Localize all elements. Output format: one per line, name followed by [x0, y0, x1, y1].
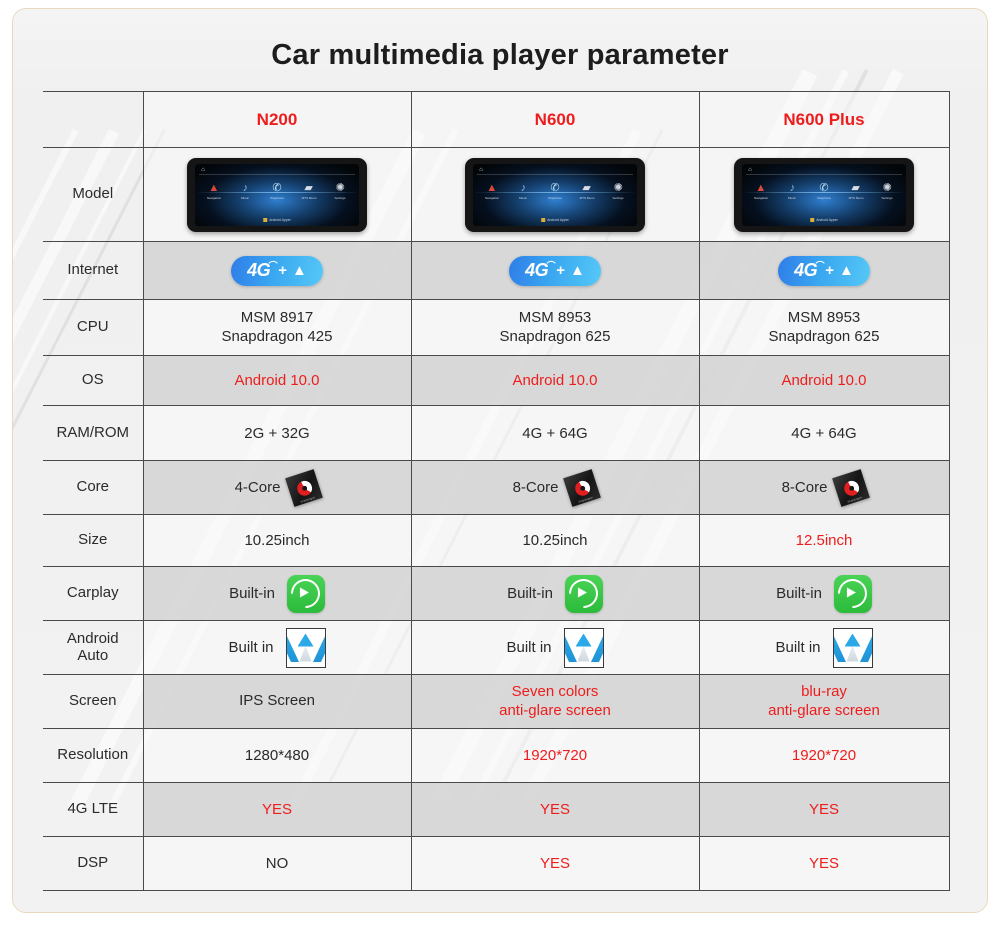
- car-menu-icon: ▰: [843, 182, 869, 195]
- row-label-android-auto: Android Auto: [43, 621, 143, 675]
- os-value: Android 10.0: [512, 372, 597, 389]
- device-app-settings: ✺Settings: [327, 182, 353, 200]
- device-footer-label: Android Apper: [269, 218, 291, 222]
- music-icon: ♪: [510, 182, 536, 195]
- wifi-icon: ▲: [570, 263, 585, 278]
- column-header-n600plus: N600 Plus: [699, 92, 949, 148]
- cell-core-n600: 8-Core Snapdragon: [411, 461, 699, 515]
- cell-ram-n600plus: 4G + 64G: [699, 406, 949, 461]
- navigation-icon: ▲: [201, 182, 227, 195]
- carplay-wrap: Built-in: [507, 575, 603, 613]
- table-row-core: Core 4-Core Snapdragon 8-Core Snapdragon: [43, 461, 949, 515]
- screen-value-line1: blu-ray: [700, 683, 949, 702]
- home-icon: ⌂: [478, 167, 484, 173]
- cell-model-n200: ⌂ ▲Navigation ♪Music ✆Telephone ▰MTS Men…: [143, 148, 411, 242]
- table-row-4g-lte: 4G LTE YES YES YES: [43, 783, 949, 837]
- device-app-label: Telephone: [812, 196, 837, 200]
- signal-waves-icon: ⌒: [547, 259, 556, 272]
- row-label-screen: Screen: [43, 675, 143, 729]
- snapdragon-chip-icon: Snapdragon: [286, 469, 324, 507]
- screen-value-line2: anti-glare screen: [700, 702, 949, 721]
- row-label-internet: Internet: [43, 242, 143, 300]
- screen-value-line1: Seven colors: [412, 683, 699, 702]
- row-label-core: Core: [43, 461, 143, 515]
- snapdragon-chip-icon: Snapdragon: [833, 469, 871, 507]
- badge-4g-wifi: 4G⌒ + ▲: [778, 256, 870, 286]
- carplay-value: Built-in: [229, 585, 275, 602]
- cell-model-n600plus: ⌂ ▲Navigation ♪Music ✆Telephone ▰MTS Men…: [699, 148, 949, 242]
- home-icon: ⌂: [747, 167, 753, 173]
- head-unit-device: ⌂ ▲Navigation ♪Music ✆Telephone ▰MTS Men…: [465, 158, 645, 232]
- badge-plus-label: +: [278, 262, 287, 279]
- table-row-cpu: CPU MSM 8917 Snapdragon 425 MSM 8953 Sna…: [43, 300, 949, 356]
- cpu-chipset: Snapdragon 425: [144, 328, 411, 347]
- device-app-label: Music: [511, 196, 536, 200]
- device-app-icons: ▲Navigation ♪Music ✆Telephone ▰MTS Menu …: [745, 182, 903, 208]
- badge-4g-wifi: 4G⌒ + ▲: [509, 256, 601, 286]
- row-label-dsp: DSP: [43, 837, 143, 891]
- resolution-value: 1920*720: [792, 747, 856, 764]
- cell-resolution-n200: 1280*480: [143, 729, 411, 783]
- device-app-icons: ▲Navigation ♪Music ✆Telephone ▰MTS Menu …: [198, 182, 356, 208]
- device-footer: Android Apper: [263, 218, 291, 222]
- settings-icon: ✺: [327, 182, 353, 195]
- snapdragon-caption: Snapdragon: [572, 493, 601, 505]
- device-app-icons: ▲Navigation ♪Music ✆Telephone ▰MTS Menu …: [476, 182, 634, 208]
- table-header-row: N200 N600 N600 Plus: [43, 92, 949, 148]
- wifi-icon: ▲: [292, 263, 307, 278]
- cell-internet-n200: 4G⌒ + ▲: [143, 242, 411, 300]
- device-app-mts-menu: ▰MTS Menu: [574, 182, 600, 200]
- spec-table: N200 N600 N600 Plus Model ⌂: [43, 91, 950, 891]
- row-label-os: OS: [43, 356, 143, 406]
- header-blank-cell: [43, 92, 143, 148]
- head-unit-device: ⌂ ▲Navigation ♪Music ✆Telephone ▰MTS Men…: [734, 158, 914, 232]
- device-statusbar: ⌂: [746, 167, 902, 175]
- device-footer-label: Android Apper: [816, 218, 838, 222]
- music-icon: ♪: [779, 182, 805, 195]
- table-row-screen: Screen IPS Screen Seven colors anti-glar…: [43, 675, 949, 729]
- table-row-size: Size 10.25inch 10.25inch 12.5inch: [43, 515, 949, 567]
- device-app-label: Settings: [875, 196, 900, 200]
- android-badge-icon: [810, 218, 814, 222]
- device-statusbar: ⌂: [477, 167, 633, 175]
- carplay-value: Built-in: [507, 585, 553, 602]
- cell-size-n200: 10.25inch: [143, 515, 411, 567]
- table-row-dsp: DSP NO YES YES: [43, 837, 949, 891]
- row-label-model: Model: [43, 148, 143, 242]
- device-app-mts-menu: ▰MTS Menu: [296, 182, 322, 200]
- lte-value: YES: [809, 801, 839, 818]
- car-menu-icon: ▰: [574, 182, 600, 195]
- android-auto-wrap: Built in: [506, 628, 603, 668]
- table-row-android-auto: Android Auto Built in Built in: [43, 621, 949, 675]
- carplay-icon: [834, 575, 872, 613]
- cell-cpu-n600plus: MSM 8953 Snapdragon 625: [699, 300, 949, 356]
- table-row-model: Model ⌂ ▲Navigation ♪Music ✆Telephone ▰M…: [43, 148, 949, 242]
- device-footer: Android Apper: [810, 218, 838, 222]
- os-value: Android 10.0: [234, 372, 319, 389]
- column-header-n200-label: N200: [257, 110, 298, 129]
- android-auto-icon: [286, 628, 326, 668]
- cell-android-auto-n200: Built in: [143, 621, 411, 675]
- cell-4glte-n200: YES: [143, 783, 411, 837]
- snapdragon-caption: Snapdragon: [841, 493, 870, 505]
- cell-core-n200: 4-Core Snapdragon: [143, 461, 411, 515]
- badge-4g-label: 4G⌒: [794, 260, 817, 281]
- cell-4glte-n600plus: YES: [699, 783, 949, 837]
- device-app-label: Navigation: [201, 196, 226, 200]
- device-app-label: Settings: [606, 196, 631, 200]
- android-auto-value: Built in: [775, 639, 820, 656]
- column-header-n600-label: N600: [535, 110, 576, 129]
- navigation-icon: ▲: [479, 182, 505, 195]
- device-app-label: Navigation: [748, 196, 773, 200]
- dsp-value: YES: [540, 855, 570, 872]
- wifi-icon: ▲: [839, 263, 854, 278]
- cell-resolution-n600: 1920*720: [411, 729, 699, 783]
- cell-4glte-n600: YES: [411, 783, 699, 837]
- row-label-ram-rom: RAM/ROM: [43, 406, 143, 461]
- cell-internet-n600: 4G⌒ + ▲: [411, 242, 699, 300]
- device-app-telephone: ✆Telephone: [542, 182, 568, 200]
- badge-4g-label: 4G⌒: [247, 260, 270, 281]
- device-footer-label: Android Apper: [547, 218, 569, 222]
- lte-value: YES: [540, 801, 570, 818]
- signal-waves-icon: ⌒: [816, 259, 825, 272]
- badge-plus-label: +: [556, 262, 565, 279]
- column-header-n200: N200: [143, 92, 411, 148]
- device-app-label: Settings: [328, 196, 353, 200]
- row-label-resolution: Resolution: [43, 729, 143, 783]
- cpu-model: MSM 8917: [144, 309, 411, 328]
- column-header-n600plus-label: N600 Plus: [783, 110, 864, 129]
- device-app-settings: ✺Settings: [605, 182, 631, 200]
- cpu-model: MSM 8953: [700, 309, 949, 328]
- table-row-internet: Internet 4G⌒ + ▲ 4G⌒ + ▲: [43, 242, 949, 300]
- device-app-label: Telephone: [265, 196, 290, 200]
- carplay-icon: [287, 575, 325, 613]
- telephone-icon: ✆: [811, 182, 837, 195]
- row-label-line1: Android: [43, 631, 143, 648]
- carplay-value: Built-in: [776, 585, 822, 602]
- core-value: 8-Core: [782, 479, 828, 496]
- table-row-os: OS Android 10.0 Android 10.0 Android 10.…: [43, 356, 949, 406]
- device-app-mts-menu: ▰MTS Menu: [843, 182, 869, 200]
- android-auto-icon: [564, 628, 604, 668]
- device-app-navigation: ▲Navigation: [201, 182, 227, 200]
- telephone-icon: ✆: [542, 182, 568, 195]
- device-app-label: Music: [233, 196, 258, 200]
- settings-icon: ✺: [874, 182, 900, 195]
- row-label-4g-lte: 4G LTE: [43, 783, 143, 837]
- page-title: Car multimedia player parameter: [13, 39, 987, 72]
- cell-os-n600: Android 10.0: [411, 356, 699, 406]
- cpu-chipset: Snapdragon 625: [412, 328, 699, 347]
- cell-ram-n600: 4G + 64G: [411, 406, 699, 461]
- cell-resolution-n600plus: 1920*720: [699, 729, 949, 783]
- row-label-cpu: CPU: [43, 300, 143, 356]
- screen-value-line2: anti-glare screen: [412, 702, 699, 721]
- cell-screen-n200: IPS Screen: [143, 675, 411, 729]
- device-app-music: ♪Music: [232, 182, 258, 200]
- badge-plus-label: +: [825, 262, 834, 279]
- signal-waves-icon: ⌒: [269, 259, 278, 272]
- device-app-label: MTS Menu: [843, 196, 868, 200]
- cell-os-n600plus: Android 10.0: [699, 356, 949, 406]
- device-app-navigation: ▲Navigation: [748, 182, 774, 200]
- screen-value-line1: IPS Screen: [144, 692, 411, 711]
- device-app-music: ♪Music: [510, 182, 536, 200]
- badge-4g-wifi: 4G⌒ + ▲: [231, 256, 323, 286]
- size-value: 12.5inch: [796, 532, 853, 549]
- cell-android-auto-n600plus: Built in: [699, 621, 949, 675]
- car-menu-icon: ▰: [296, 182, 322, 195]
- cell-screen-n600plus: blu-ray anti-glare screen: [699, 675, 949, 729]
- telephone-icon: ✆: [264, 182, 290, 195]
- cell-core-n600plus: 8-Core Snapdragon: [699, 461, 949, 515]
- cell-internet-n600plus: 4G⌒ + ▲: [699, 242, 949, 300]
- cell-screen-n600: Seven colors anti-glare screen: [411, 675, 699, 729]
- column-header-n600: N600: [411, 92, 699, 148]
- table-row-resolution: Resolution 1280*480 1920*720 1920*720: [43, 729, 949, 783]
- cell-carplay-n600plus: Built-in: [699, 567, 949, 621]
- cell-model-n600: ⌂ ▲Navigation ♪Music ✆Telephone ▰MTS Men…: [411, 148, 699, 242]
- snapdragon-chip-icon: Snapdragon: [564, 469, 602, 507]
- device-app-telephone: ✆Telephone: [811, 182, 837, 200]
- spec-card: Car multimedia player parameter N200 N60…: [12, 8, 988, 913]
- device-app-settings: ✺Settings: [874, 182, 900, 200]
- core-value: 4-Core: [235, 479, 281, 496]
- cpu-chipset: Snapdragon 625: [700, 328, 949, 347]
- cell-size-n600: 10.25inch: [411, 515, 699, 567]
- resolution-value: 1920*720: [523, 747, 587, 764]
- carplay-wrap: Built-in: [229, 575, 325, 613]
- snapdragon-caption: Snapdragon: [294, 493, 323, 505]
- android-auto-value: Built in: [228, 639, 273, 656]
- core-value-wrap: 8-Core Snapdragon: [513, 473, 598, 503]
- device-screen: ⌂ ▲Navigation ♪Music ✆Telephone ▰MTS Men…: [742, 164, 906, 226]
- carplay-icon: [565, 575, 603, 613]
- cell-cpu-n600: MSM 8953 Snapdragon 625: [411, 300, 699, 356]
- cell-os-n200: Android 10.0: [143, 356, 411, 406]
- device-app-navigation: ▲Navigation: [479, 182, 505, 200]
- device-screen: ⌂ ▲Navigation ♪Music ✆Telephone ▰MTS Men…: [473, 164, 637, 226]
- cell-carplay-n200: Built-in: [143, 567, 411, 621]
- cell-carplay-n600: Built-in: [411, 567, 699, 621]
- android-auto-wrap: Built in: [228, 628, 325, 668]
- device-app-music: ♪Music: [779, 182, 805, 200]
- carplay-wrap: Built-in: [776, 575, 872, 613]
- device-app-label: MTS Menu: [296, 196, 321, 200]
- device-app-label: MTS Menu: [574, 196, 599, 200]
- head-unit-device: ⌂ ▲Navigation ♪Music ✆Telephone ▰MTS Men…: [187, 158, 367, 232]
- settings-icon: ✺: [605, 182, 631, 195]
- device-app-label: Telephone: [543, 196, 568, 200]
- cell-ram-n200: 2G + 32G: [143, 406, 411, 461]
- core-value-wrap: 8-Core Snapdragon: [782, 473, 867, 503]
- cpu-model: MSM 8953: [412, 309, 699, 328]
- cell-dsp-n600plus: YES: [699, 837, 949, 891]
- device-app-label: Navigation: [479, 196, 504, 200]
- cell-android-auto-n600: Built in: [411, 621, 699, 675]
- cell-dsp-n200: NO: [143, 837, 411, 891]
- row-label-line2: Auto: [43, 648, 143, 665]
- android-badge-icon: [541, 218, 545, 222]
- android-auto-wrap: Built in: [775, 628, 872, 668]
- row-label-size: Size: [43, 515, 143, 567]
- core-value-wrap: 4-Core Snapdragon: [235, 473, 320, 503]
- device-screen: ⌂ ▲Navigation ♪Music ✆Telephone ▰MTS Men…: [195, 164, 359, 226]
- home-icon: ⌂: [200, 167, 206, 173]
- cell-size-n600plus: 12.5inch: [699, 515, 949, 567]
- cell-dsp-n600: YES: [411, 837, 699, 891]
- device-footer: Android Apper: [541, 218, 569, 222]
- row-label-carplay: Carplay: [43, 567, 143, 621]
- device-app-label: Music: [780, 196, 805, 200]
- dsp-value: YES: [809, 855, 839, 872]
- android-auto-icon: [833, 628, 873, 668]
- device-statusbar: ⌂: [199, 167, 355, 175]
- device-app-telephone: ✆Telephone: [264, 182, 290, 200]
- core-value: 8-Core: [513, 479, 559, 496]
- music-icon: ♪: [232, 182, 258, 195]
- lte-value: YES: [262, 801, 292, 818]
- os-value: Android 10.0: [781, 372, 866, 389]
- android-auto-value: Built in: [506, 639, 551, 656]
- table-row-carplay: Carplay Built-in Built-in Built-in: [43, 567, 949, 621]
- badge-4g-label: 4G⌒: [525, 260, 548, 281]
- navigation-icon: ▲: [748, 182, 774, 195]
- table-row-ram-rom: RAM/ROM 2G + 32G 4G + 64G 4G + 64G: [43, 406, 949, 461]
- cell-cpu-n200: MSM 8917 Snapdragon 425: [143, 300, 411, 356]
- android-badge-icon: [263, 218, 267, 222]
